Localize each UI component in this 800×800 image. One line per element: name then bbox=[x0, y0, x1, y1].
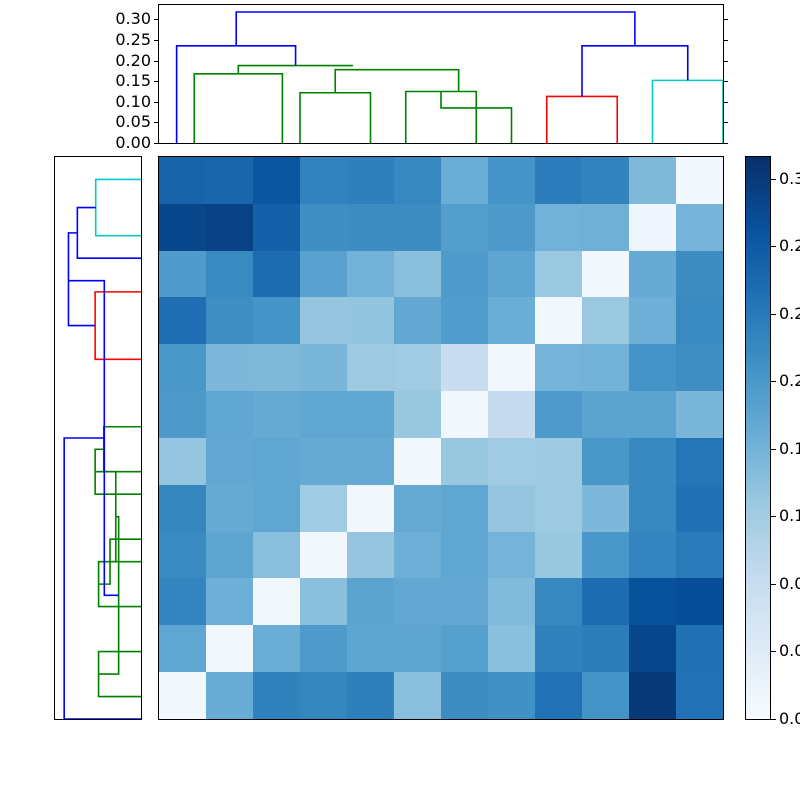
heatmap-cell bbox=[300, 578, 347, 625]
heatmap-cell bbox=[488, 297, 535, 344]
dendrogram-tick-mark-right bbox=[723, 40, 728, 41]
heatmap-cell bbox=[253, 438, 300, 485]
row-link-b4 bbox=[64, 438, 141, 719]
colorbar-tick-label: 0.28 bbox=[779, 238, 800, 254]
heatmap-cell bbox=[253, 157, 300, 204]
row-link-cy1 bbox=[96, 179, 141, 235]
colorbar-gradient bbox=[746, 157, 770, 719]
heatmap-cell bbox=[582, 157, 629, 204]
heatmap-cell bbox=[159, 672, 206, 719]
colorbar-tick-label: 0.12 bbox=[779, 508, 800, 524]
column-dendrogram-panel: 0.000.050.100.150.200.250.30 bbox=[158, 4, 724, 144]
heatmap-cell bbox=[206, 204, 253, 251]
heatmap-cell bbox=[488, 485, 535, 532]
heatmap-cell bbox=[394, 157, 441, 204]
heatmap-cell bbox=[206, 297, 253, 344]
heatmap-cell bbox=[629, 672, 676, 719]
heatmap-cell bbox=[676, 625, 723, 672]
heatmap-cell bbox=[582, 485, 629, 532]
heatmap-cell bbox=[253, 532, 300, 579]
heatmap-cell bbox=[159, 344, 206, 391]
colorbar-tick-mark bbox=[770, 179, 776, 180]
heatmap-cell bbox=[206, 344, 253, 391]
heatmap-cell bbox=[629, 625, 676, 672]
colorbar-tick-mark bbox=[770, 651, 776, 652]
heatmap-cell bbox=[206, 391, 253, 438]
heatmap-cell bbox=[253, 251, 300, 298]
heatmap-cell bbox=[300, 438, 347, 485]
heatmap-cell bbox=[535, 485, 582, 532]
col-link-c6 bbox=[335, 70, 458, 93]
heatmap-cell bbox=[253, 204, 300, 251]
col-link-c3 bbox=[300, 93, 371, 143]
row-link-g1 bbox=[104, 427, 141, 472]
heatmap-cell bbox=[629, 344, 676, 391]
heatmap-cell bbox=[347, 204, 394, 251]
heatmap-cell bbox=[206, 438, 253, 485]
heatmap-cell bbox=[159, 391, 206, 438]
colorbar-tick-mark bbox=[770, 449, 776, 450]
colorbar-tick-mark bbox=[770, 584, 776, 585]
heatmap-cell bbox=[535, 578, 582, 625]
heatmap-cell bbox=[488, 672, 535, 719]
heatmap-cell bbox=[629, 485, 676, 532]
heatmap-cell bbox=[441, 578, 488, 625]
heatmap-cell bbox=[582, 391, 629, 438]
heatmap-cell bbox=[488, 438, 535, 485]
heatmap-cell bbox=[676, 204, 723, 251]
row-link-b1 bbox=[77, 208, 141, 259]
col-link-r1 bbox=[547, 96, 618, 143]
row-dendrogram bbox=[55, 157, 141, 719]
heatmap-cell bbox=[347, 532, 394, 579]
heatmap-cell bbox=[676, 157, 723, 204]
colorbar-tick-mark bbox=[770, 516, 776, 517]
heatmap-cell bbox=[253, 625, 300, 672]
heatmap-cell bbox=[488, 625, 535, 672]
column-dendrogram bbox=[159, 5, 723, 143]
colorbar-tick-mark bbox=[770, 381, 776, 382]
col-link-c1 bbox=[194, 74, 282, 143]
heatmap-cell bbox=[394, 672, 441, 719]
heatmap-cell bbox=[488, 578, 535, 625]
heatmap-cell bbox=[394, 344, 441, 391]
heatmap-cell bbox=[300, 625, 347, 672]
heatmap-cell bbox=[582, 532, 629, 579]
heatmap-cell bbox=[300, 157, 347, 204]
heatmap-cell bbox=[676, 578, 723, 625]
heatmap-cell bbox=[300, 204, 347, 251]
heatmap-cell bbox=[253, 485, 300, 532]
dendrogram-tick-mark-right bbox=[723, 61, 728, 62]
colorbar-tick-label: 0.04 bbox=[779, 643, 800, 659]
heatmap-cell bbox=[629, 438, 676, 485]
heatmap-cell bbox=[300, 485, 347, 532]
heatmap-cell bbox=[535, 157, 582, 204]
heatmap-cell bbox=[300, 297, 347, 344]
heatmap-cell bbox=[441, 344, 488, 391]
heatmap-cell bbox=[441, 625, 488, 672]
heatmap-cell bbox=[676, 297, 723, 344]
heatmap-cell bbox=[394, 297, 441, 344]
heatmap-cell bbox=[394, 485, 441, 532]
dendrogram-tick-mark-right bbox=[723, 102, 728, 103]
heatmap-cell bbox=[535, 297, 582, 344]
dendrogram-tick-mark bbox=[154, 122, 159, 123]
heatmap-cell bbox=[488, 391, 535, 438]
col-link-b2 bbox=[582, 46, 688, 97]
heatmap-cell bbox=[676, 344, 723, 391]
heatmap-cell bbox=[535, 532, 582, 579]
colorbar-tick-label: 0.16 bbox=[779, 441, 800, 457]
heatmap-cell bbox=[676, 485, 723, 532]
heatmap-grid bbox=[159, 157, 723, 719]
heatmap-cell bbox=[582, 344, 629, 391]
heatmap-cell bbox=[253, 344, 300, 391]
heatmap-cell bbox=[300, 344, 347, 391]
heatmap-cell bbox=[535, 204, 582, 251]
heatmap-cell bbox=[441, 485, 488, 532]
dendrogram-tick-mark bbox=[154, 143, 159, 144]
dendrogram-tick-label: 0.00 bbox=[115, 135, 151, 151]
heatmap-cell bbox=[441, 532, 488, 579]
heatmap-cell bbox=[159, 438, 206, 485]
heatmap-cell bbox=[582, 438, 629, 485]
heatmap-cell bbox=[535, 438, 582, 485]
heatmap-cell bbox=[488, 157, 535, 204]
heatmap-cell bbox=[535, 344, 582, 391]
heatmap-cell bbox=[159, 485, 206, 532]
heatmap-cell bbox=[159, 251, 206, 298]
heatmap-cell bbox=[347, 438, 394, 485]
heatmap-cell bbox=[488, 251, 535, 298]
dendrogram-tick-mark-right bbox=[723, 81, 728, 82]
heatmap-cell bbox=[206, 251, 253, 298]
heatmap-cell bbox=[629, 578, 676, 625]
heatmap-cell bbox=[347, 625, 394, 672]
dendrogram-tick-label: 0.25 bbox=[115, 32, 151, 48]
dendrogram-tick-label: 0.05 bbox=[115, 114, 151, 130]
heatmap-cell bbox=[347, 391, 394, 438]
colorbar-tick-label: 0.24 bbox=[779, 306, 800, 322]
dendrogram-tick-mark bbox=[154, 40, 159, 41]
heatmap-cell bbox=[441, 297, 488, 344]
heatmap-cell bbox=[488, 532, 535, 579]
heatmap-cell bbox=[206, 672, 253, 719]
row-dendrogram-panel bbox=[54, 156, 142, 720]
heatmap-cell bbox=[159, 157, 206, 204]
heatmap-cell bbox=[159, 532, 206, 579]
heatmap-cell bbox=[253, 297, 300, 344]
colorbar-tick-mark bbox=[770, 719, 776, 720]
heatmap-cell bbox=[394, 532, 441, 579]
row-link-g5 bbox=[95, 472, 116, 562]
heatmap-cell bbox=[253, 391, 300, 438]
heatmap-cell bbox=[394, 578, 441, 625]
dendrogram-tick-mark bbox=[154, 19, 159, 20]
heatmap-cell bbox=[347, 251, 394, 298]
heatmap-cell bbox=[206, 625, 253, 672]
heatmap-cell bbox=[159, 297, 206, 344]
heatmap-cell bbox=[206, 157, 253, 204]
heatmap-cell bbox=[394, 251, 441, 298]
heatmap-cell bbox=[629, 391, 676, 438]
dendrogram-tick-label: 0.10 bbox=[115, 94, 151, 110]
heatmap-cell bbox=[159, 625, 206, 672]
heatmap-cell bbox=[629, 251, 676, 298]
heatmap-cell bbox=[347, 344, 394, 391]
colorbar-tick-label: 0.20 bbox=[779, 373, 800, 389]
heatmap-cell bbox=[535, 251, 582, 298]
heatmap-cell bbox=[441, 157, 488, 204]
heatmap-cell bbox=[629, 157, 676, 204]
heatmap-cell bbox=[629, 297, 676, 344]
dendrogram-tick-label: 0.15 bbox=[115, 73, 151, 89]
heatmap-cell bbox=[441, 391, 488, 438]
heatmap-cell bbox=[394, 391, 441, 438]
heatmap-cell bbox=[582, 578, 629, 625]
heatmap-cell bbox=[582, 297, 629, 344]
heatmap-cell bbox=[394, 204, 441, 251]
heatmap-cell bbox=[676, 251, 723, 298]
heatmap-cell bbox=[582, 251, 629, 298]
heatmap-cell bbox=[206, 485, 253, 532]
heatmap-cell bbox=[629, 532, 676, 579]
heatmap-cell bbox=[441, 672, 488, 719]
heatmap-cell bbox=[159, 204, 206, 251]
heatmap-cell bbox=[159, 578, 206, 625]
dendrogram-tick-mark-right bbox=[723, 143, 728, 144]
row-link-r1 bbox=[95, 292, 141, 359]
heatmap-cell bbox=[676, 391, 723, 438]
heatmap-cell bbox=[582, 625, 629, 672]
heatmap-panel bbox=[158, 156, 724, 720]
heatmap-cell bbox=[676, 532, 723, 579]
colorbar-tick-label: 0.08 bbox=[779, 576, 800, 592]
colorbar: 0.000.040.080.120.160.200.240.280.32 bbox=[745, 156, 771, 720]
dendrogram-tick-mark bbox=[154, 102, 159, 103]
heatmap-cell bbox=[488, 344, 535, 391]
heatmap-cell bbox=[300, 532, 347, 579]
dendrogram-tick-mark-right bbox=[723, 122, 728, 123]
colorbar-tick-label: 0.32 bbox=[779, 171, 800, 187]
dendrogram-tick-label: 0.30 bbox=[115, 11, 151, 27]
heatmap-cell bbox=[441, 204, 488, 251]
heatmap-cell bbox=[582, 672, 629, 719]
heatmap-cell bbox=[300, 251, 347, 298]
heatmap-cell bbox=[347, 672, 394, 719]
heatmap-cell bbox=[488, 204, 535, 251]
heatmap-cell bbox=[300, 672, 347, 719]
heatmap-cell bbox=[206, 578, 253, 625]
heatmap-cell bbox=[347, 578, 394, 625]
clustermap-figure: 0.000.050.100.150.200.250.30 0.000.040.0… bbox=[0, 0, 800, 800]
heatmap-cell bbox=[253, 578, 300, 625]
row-link-b2 bbox=[68, 233, 95, 326]
colorbar-tick-mark bbox=[770, 314, 776, 315]
heatmap-cell bbox=[535, 625, 582, 672]
dendrogram-tick-mark bbox=[154, 61, 159, 62]
heatmap-cell bbox=[347, 157, 394, 204]
colorbar-tick-label: 0.00 bbox=[779, 711, 800, 727]
heatmap-cell bbox=[206, 532, 253, 579]
col-link-cy1 bbox=[653, 80, 724, 143]
col-link-b3 bbox=[236, 12, 635, 46]
heatmap-cell bbox=[676, 438, 723, 485]
colorbar-tick-mark bbox=[770, 246, 776, 247]
heatmap-cell bbox=[253, 672, 300, 719]
dendrogram-tick-mark-right bbox=[723, 19, 728, 20]
heatmap-cell bbox=[300, 391, 347, 438]
heatmap-cell bbox=[676, 672, 723, 719]
heatmap-cell bbox=[347, 485, 394, 532]
heatmap-cell bbox=[394, 438, 441, 485]
heatmap-cell bbox=[582, 204, 629, 251]
heatmap-cell bbox=[535, 672, 582, 719]
heatmap-cell bbox=[394, 625, 441, 672]
heatmap-cell bbox=[441, 438, 488, 485]
heatmap-cell bbox=[629, 204, 676, 251]
heatmap-cell bbox=[535, 391, 582, 438]
dendrogram-tick-mark bbox=[154, 81, 159, 82]
dendrogram-tick-label: 0.20 bbox=[115, 53, 151, 69]
heatmap-cell bbox=[441, 251, 488, 298]
heatmap-cell bbox=[347, 297, 394, 344]
